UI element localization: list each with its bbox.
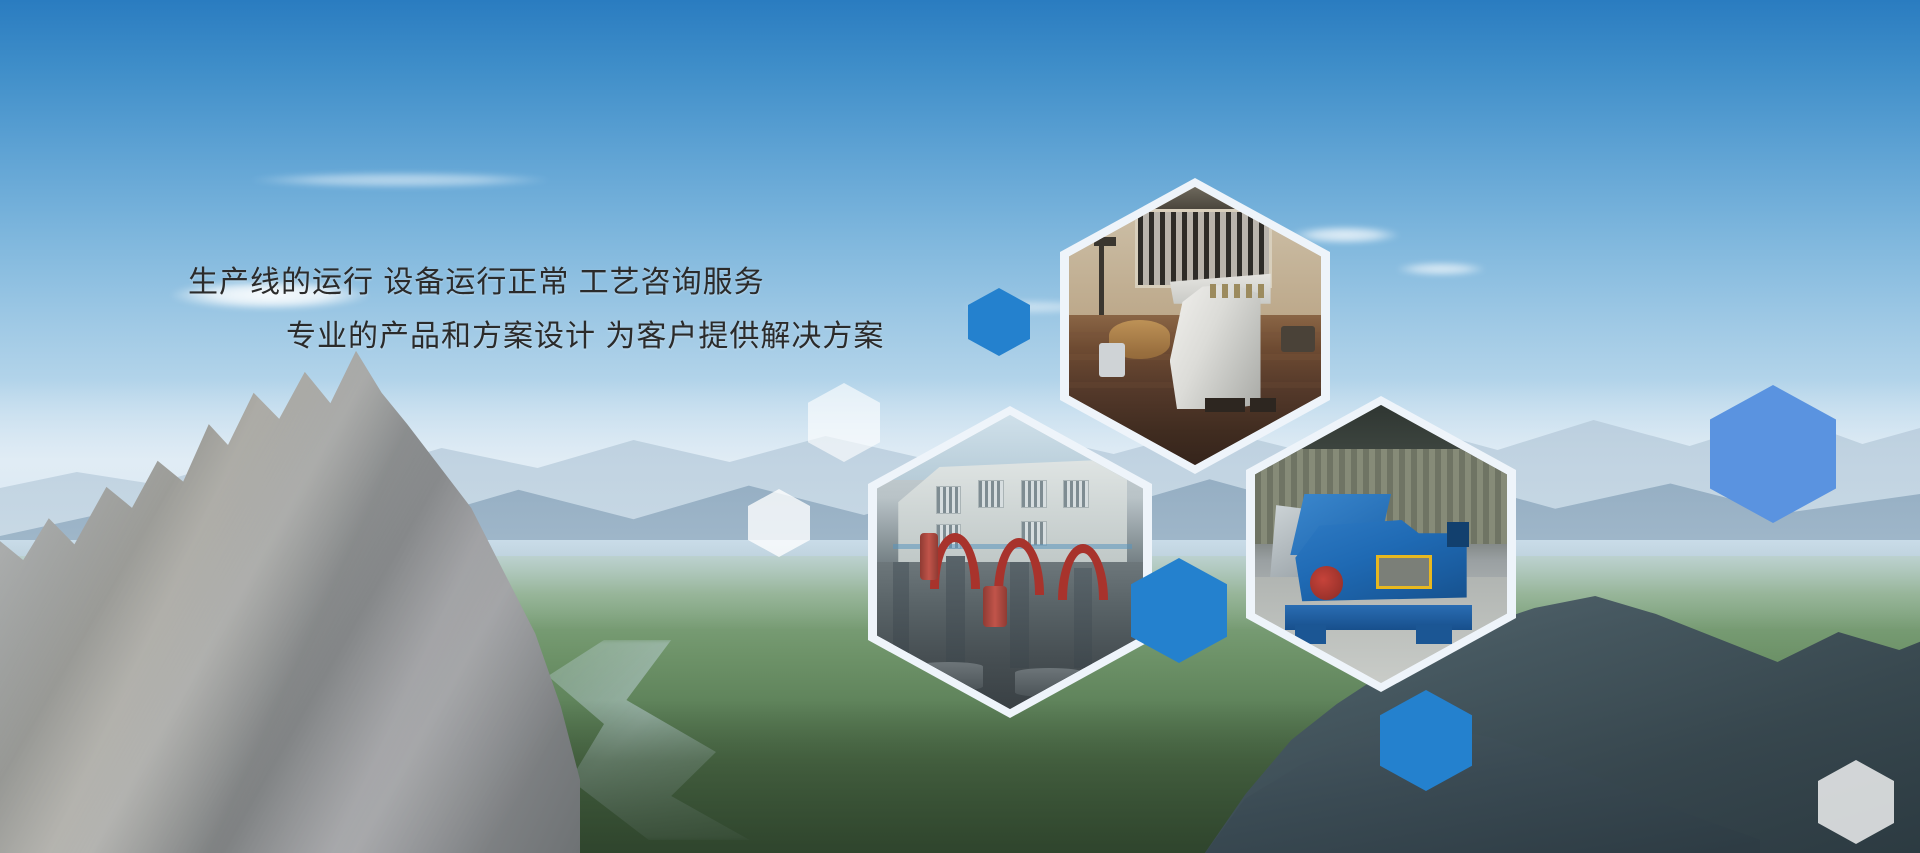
headline-line-2: 专业的产品和方案设计 为客户提供解决方案: [286, 322, 948, 352]
cloud-decoration: [1396, 262, 1486, 276]
photo-factory-exterior-line: [877, 415, 1143, 709]
photo-blue-shredder-machine: [1255, 405, 1507, 683]
banner-headline: 生产线的运行 设备运行正常 工艺咨询服务 专业的产品和方案设计 为客户提供解决方…: [188, 268, 948, 352]
cloud-decoration: [250, 172, 550, 188]
photo-casting-ladle-equipment: [1069, 187, 1321, 465]
headline-line-1: 生产线的运行 设备运行正常 工艺咨询服务: [188, 268, 948, 298]
hero-banner: 生产线的运行 设备运行正常 工艺咨询服务 专业的产品和方案设计 为客户提供解决方…: [0, 0, 1920, 853]
